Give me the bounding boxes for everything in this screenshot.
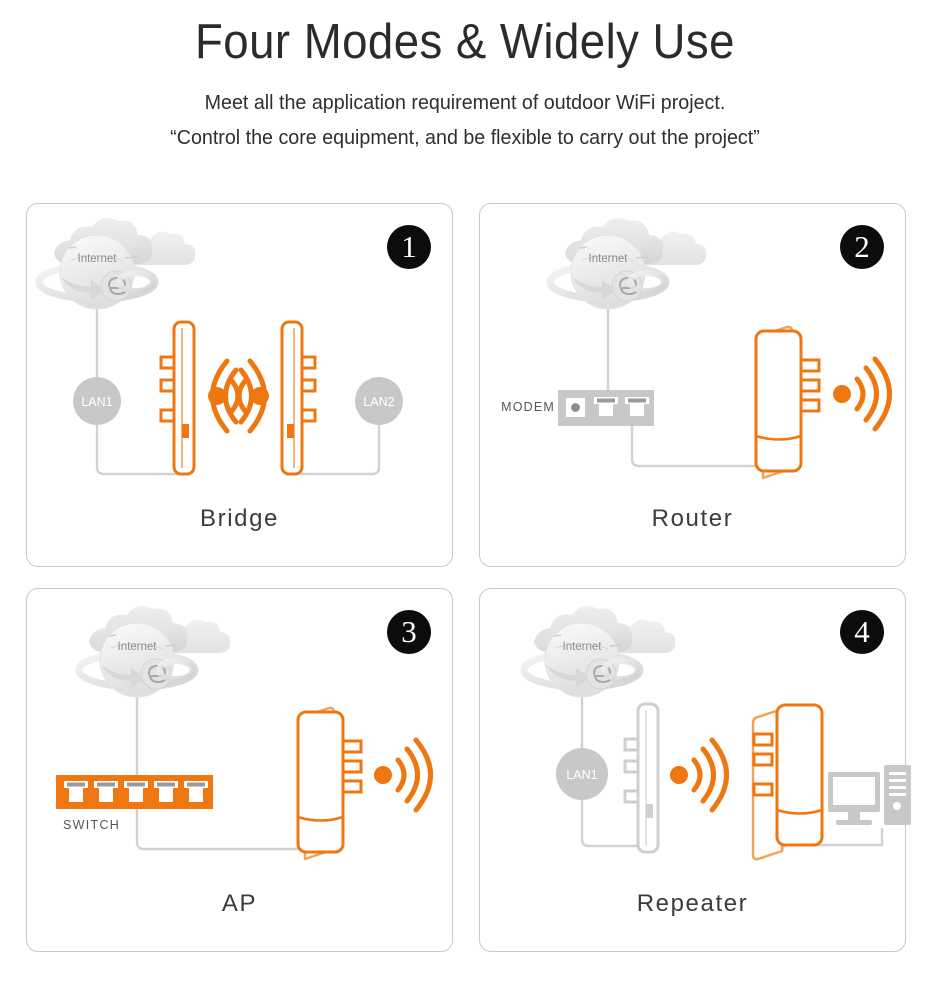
internet-cloud-icon: Internet [550, 218, 706, 309]
mode-label-router: Router [480, 505, 905, 533]
mode-panel-router[interactable]: 2 [479, 203, 906, 567]
cpe-3d-orange [298, 708, 361, 859]
internet-label: Internet [118, 641, 158, 653]
mode-label-repeater: Repeater [480, 890, 905, 918]
cpe-side-orange-left [161, 322, 194, 474]
desktop-computer-icon [828, 765, 911, 825]
wifi-signal-right [374, 740, 431, 810]
switch-label: SWITCH [63, 818, 120, 832]
modem-label: MODEM [501, 400, 555, 414]
lan1-node: LAN1 [73, 377, 121, 425]
lan1-label: LAN1 [566, 768, 597, 782]
mode-panel-bridge[interactable]: 1 [26, 203, 453, 567]
page-title: Four Modes & Widely Use [33, 14, 898, 72]
lan1-node: LAN1 [556, 748, 608, 800]
mode-label-bridge: Bridge [27, 505, 452, 533]
power-port [566, 398, 585, 417]
cable-group [608, 309, 763, 466]
page-header: Four Modes & Widely Use Meet all the app… [0, 0, 930, 152]
wifi-signal-right [833, 359, 890, 429]
cable-group [137, 697, 305, 849]
lan2-label: LAN2 [363, 395, 394, 409]
modes-grid: 1 [26, 203, 910, 963]
lan2-node: LAN2 [355, 377, 403, 425]
wifi-signal-right [670, 740, 727, 810]
internet-cloud-icon: Internet [524, 606, 675, 697]
internet-cloud-icon: Internet [79, 606, 230, 697]
subtitle-line-2: “Control the core equipment, and be flex… [19, 125, 912, 152]
subtitle-line-1: Meet all the application requirement of … [19, 90, 912, 117]
cpe-side-gray [625, 704, 658, 852]
cpe-3d-orange-flipped [753, 705, 822, 859]
lan1-label: LAN1 [81, 395, 112, 409]
cpe-3d-orange [756, 327, 819, 478]
internet-label: Internet [78, 253, 118, 265]
modem-device: MODEM [501, 390, 654, 426]
mode-panel-ap[interactable]: 3 [26, 588, 453, 952]
mode-label-ap: AP [27, 890, 452, 918]
internet-label: Internet [563, 641, 603, 653]
cpe-side-orange-right [282, 322, 315, 474]
mode-panel-repeater[interactable]: 4 [479, 588, 906, 952]
switch-device: SWITCH [56, 775, 213, 832]
internet-cloud-icon: Internet [39, 218, 195, 309]
internet-label: Internet [589, 253, 629, 265]
